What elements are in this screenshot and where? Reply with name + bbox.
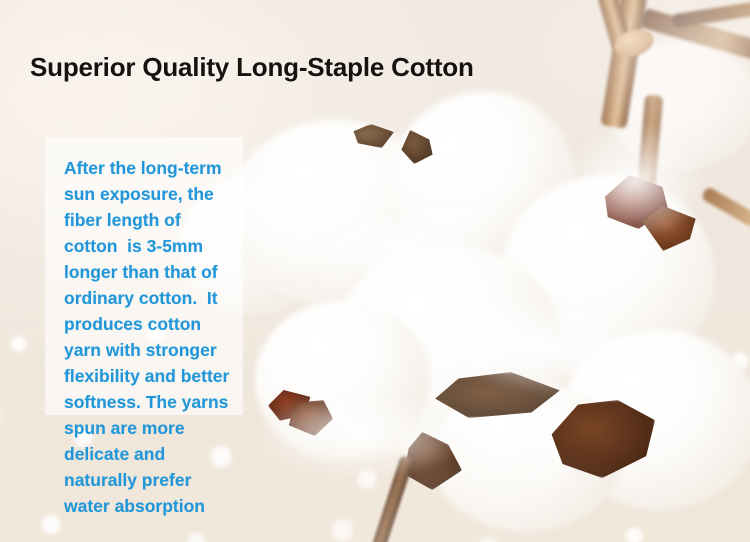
promo-banner: Superior Quality Long-Staple Cotton Afte… bbox=[0, 0, 750, 542]
description-text: After the long-term sun exposure, the fi… bbox=[64, 155, 237, 519]
page-title: Superior Quality Long-Staple Cotton bbox=[30, 52, 474, 83]
cotton-fiber-highlight bbox=[560, 120, 710, 240]
cotton-fiber-highlight bbox=[250, 390, 470, 480]
description-panel: After the long-term sun exposure, the fi… bbox=[45, 137, 243, 415]
